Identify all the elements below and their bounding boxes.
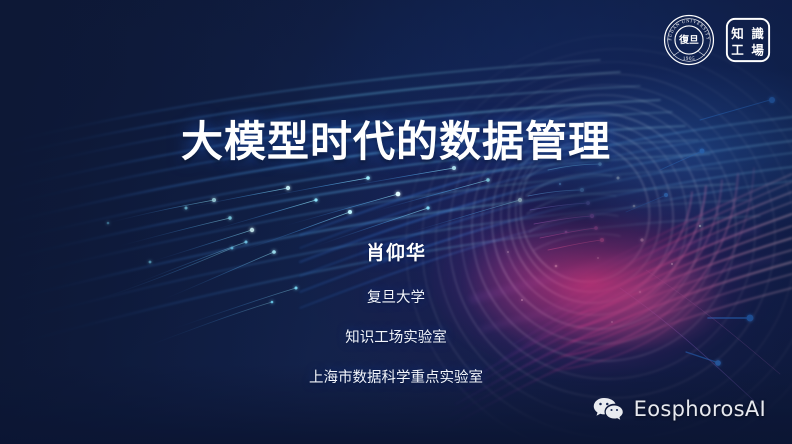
svg-text:工: 工 [731, 42, 744, 57]
watermark-text: EosphorosAI [634, 397, 766, 421]
slide-title: 大模型时代的数据管理 [0, 108, 792, 169]
logo-group: FUDAN UNIVERSITY 復旦 1905 知 識 工 場 [663, 14, 772, 66]
wechat-icon [593, 396, 623, 422]
speaker-affiliation-lab: 知识工场实验室 [0, 326, 792, 347]
svg-text:識: 識 [751, 26, 764, 41]
speaker-name: 肖仰华 [0, 238, 792, 265]
speaker-affiliation-key-lab: 上海市数据科学重点实验室 [0, 366, 792, 387]
speaker-info-block: 肖仰华 复旦大学 知识工场实验室 上海市数据科学重点实验室 [0, 238, 792, 387]
svg-text:知: 知 [730, 26, 743, 41]
svg-text:場: 場 [751, 42, 764, 57]
svg-text:1905: 1905 [683, 57, 695, 62]
watermark: EosphorosAI [593, 396, 766, 422]
speaker-affiliation-university: 复旦大学 [0, 286, 792, 307]
presentation-title-slide: FUDAN UNIVERSITY 復旦 1905 知 識 工 場 大模型时代的数… [0, 0, 792, 444]
svg-text:復旦: 復旦 [678, 33, 699, 46]
knowledge-works-logo-icon: 知 識 工 場 [724, 16, 772, 64]
fudan-university-seal-icon: FUDAN UNIVERSITY 復旦 1905 [663, 14, 715, 66]
